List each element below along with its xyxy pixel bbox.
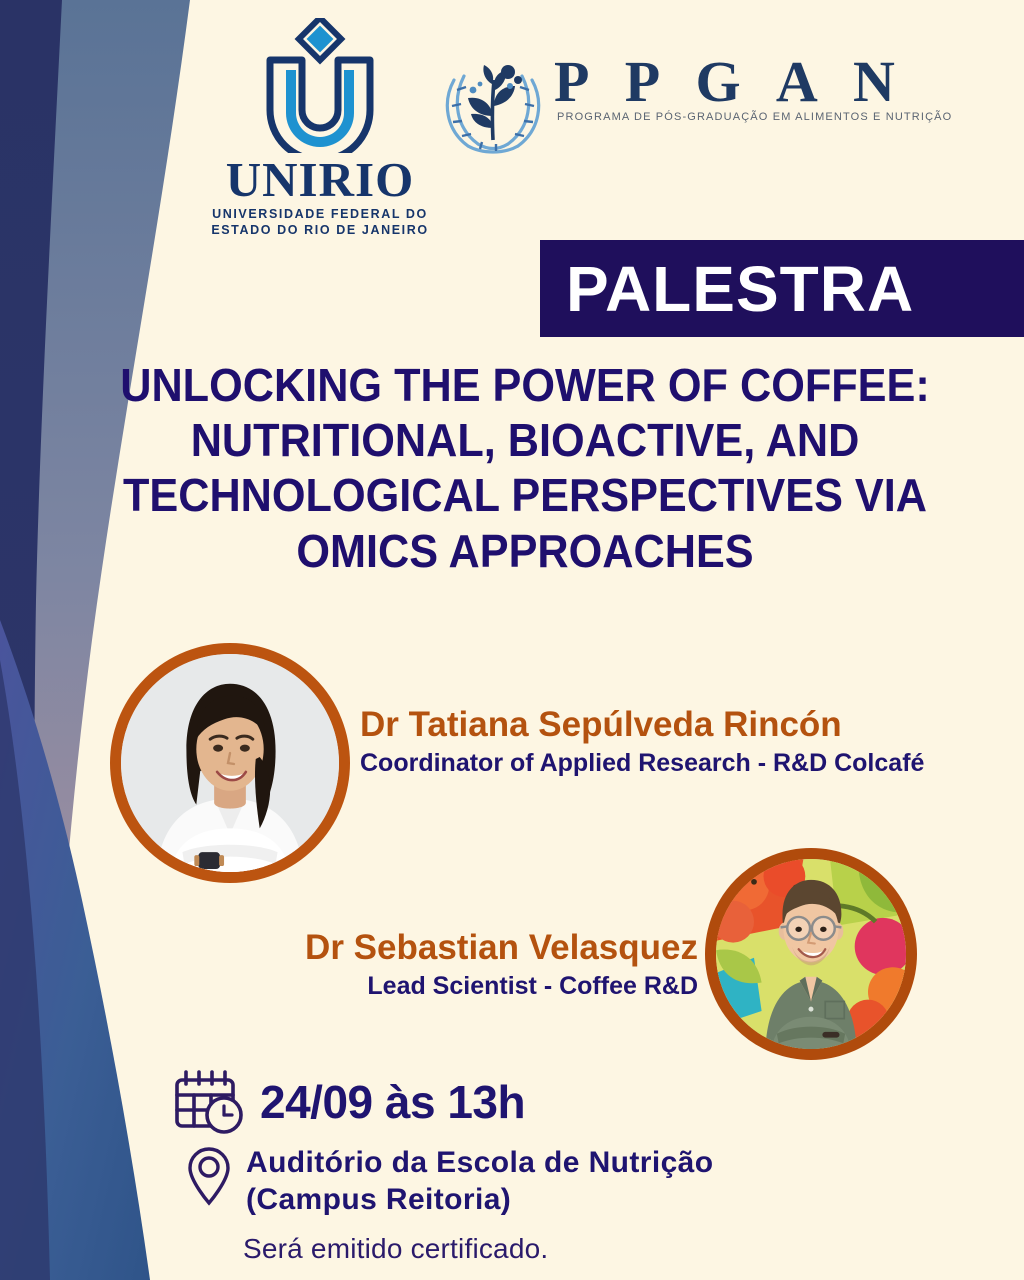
palestra-banner: PALESTRA [540, 240, 1024, 337]
unirio-subtitle-line2: ESTADO DO RIO DE JANEIRO [210, 223, 430, 239]
speaker-name: Dr Tatiana Sepúlveda Rincón [360, 705, 924, 745]
speaker-role: Coordinator of Applied Research - R&D Co… [360, 748, 924, 778]
speaker-info-tatiana: Dr Tatiana Sepúlveda Rincón Coordinator … [360, 705, 924, 778]
unirio-subtitle: UNIVERSIDADE FEDERAL DO ESTADO DO RIO DE… [210, 207, 430, 238]
certificate-note: Será emitido certificado. [243, 1233, 548, 1265]
speaker-name: Dr Sebastian Velasquez [258, 928, 698, 968]
ppgan-wordmark: P P G A N [554, 52, 952, 113]
unirio-u-mark-icon [250, 18, 390, 153]
unirio-subtitle-line1: UNIVERSIDADE FEDERAL DO [210, 207, 430, 223]
speaker-photo-tatiana [110, 643, 350, 883]
event-location-row: Auditório da Escola de Nutrição (Campus … [186, 1145, 713, 1218]
unirio-logo: UNIRIO UNIVERSIDADE FEDERAL DO ESTADO DO… [210, 18, 430, 238]
speaker-info-sebastian: Dr Sebastian Velasquez Lead Scientist - … [258, 928, 698, 1001]
speaker-role: Lead Scientist - Coffee R&D [258, 971, 698, 1001]
avatar [716, 859, 906, 1049]
title-line-2: NUTRITIONAL, BIOACTIVE, AND [88, 413, 962, 468]
logo-header: UNIRIO UNIVERSIDADE FEDERAL DO ESTADO DO… [0, 0, 1024, 215]
palestra-label: PALESTRA [566, 252, 914, 326]
avatar [121, 654, 339, 872]
event-location-line2: (Campus Reitoria) [246, 1182, 713, 1219]
ppgan-logo: P P G A N PROGRAMA DE PÓS-GRADUAÇÃO EM A… [440, 52, 952, 158]
location-pin-icon [186, 1145, 232, 1207]
title-line-1: UNLOCKING THE POWER OF COFFEE: [88, 358, 962, 413]
title-line-4: OMICS APPROACHES [88, 524, 962, 579]
page-title: UNLOCKING THE POWER OF COFFEE: NUTRITION… [88, 358, 962, 579]
event-location-line1: Auditório da Escola de Nutrição [246, 1145, 713, 1182]
title-line-3: TECHNOLOGICAL PERSPECTIVES VIA [88, 468, 962, 523]
event-date-row: 24/09 às 13h [172, 1068, 525, 1136]
unirio-wordmark: UNIRIO [210, 155, 430, 204]
event-location: Auditório da Escola de Nutrição (Campus … [246, 1145, 713, 1218]
speaker-photo-sebastian [705, 848, 917, 1060]
calendar-clock-icon [172, 1068, 244, 1136]
ppgan-plant-dna-icon [440, 54, 546, 158]
event-date: 24/09 às 13h [260, 1079, 525, 1125]
ppgan-subtitle: PROGRAMA DE PÓS-GRADUAÇÃO EM ALIMENTOS E… [557, 111, 952, 123]
event-poster: UNIRIO UNIVERSIDADE FEDERAL DO ESTADO DO… [0, 0, 1024, 1280]
